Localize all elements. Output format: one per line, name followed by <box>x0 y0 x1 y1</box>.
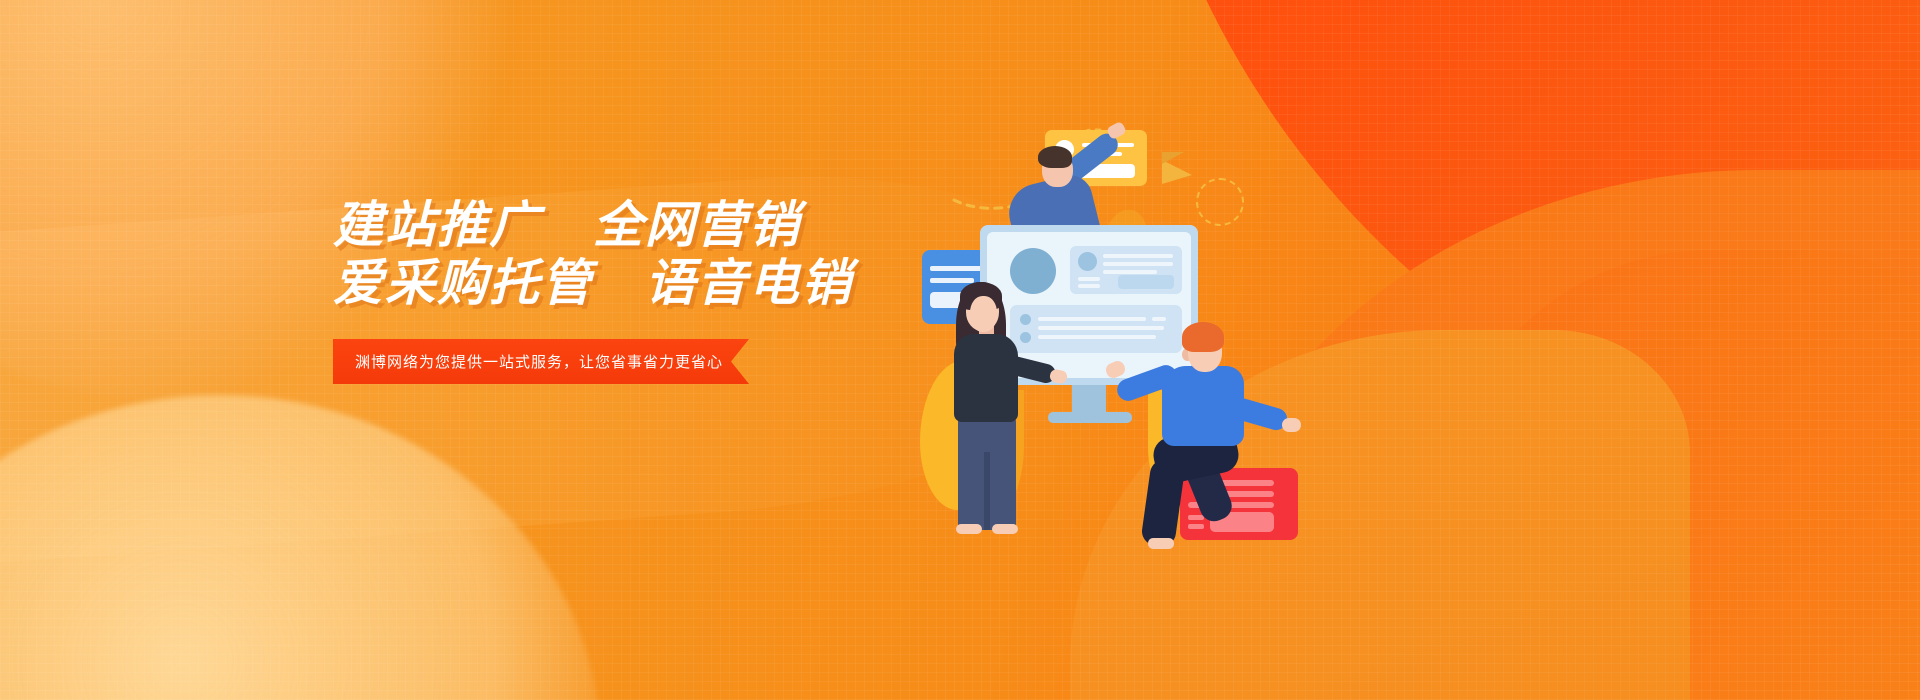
screen-card-line-2 <box>1103 262 1173 266</box>
man-reaching-hair <box>1038 146 1072 168</box>
screen-circle-widget <box>1010 248 1056 294</box>
promo-banner: 建站推广 全网营销 爱采购托管 语音电销 渊博网络为您提供一站式服务，让您省事省… <box>0 0 1920 700</box>
man-sitting-hair <box>1182 322 1224 352</box>
blue-card-line-2 <box>930 278 974 283</box>
dashed-circle-icon <box>1196 178 1244 226</box>
screen-list-dash <box>1152 317 1166 321</box>
headline-line-1-part-1: 建站推广 <box>333 197 541 253</box>
subtitle-ribbon-text: 渊博网络为您提供一站式服务，让您省事省力更省心 <box>355 351 723 372</box>
headline-line-1: 建站推广 全网营销 <box>333 196 853 254</box>
screen-list-bullet-2 <box>1020 332 1031 343</box>
screen-list-line-3 <box>1038 335 1156 339</box>
monitor-base <box>1048 412 1132 423</box>
man-sitting-lower-leg <box>1140 458 1186 548</box>
screen-card-small-line-2 <box>1078 284 1100 288</box>
screen-card-avatar <box>1078 252 1097 271</box>
hero-illustration <box>900 60 1320 660</box>
subtitle-ribbon: 渊博网络为您提供一站式服务，让您省事省力更省心 <box>333 339 749 384</box>
screen-list-bullet-1 <box>1020 314 1031 325</box>
screen-card-line-1 <box>1103 254 1173 258</box>
headline-block: 建站推广 全网营销 爱采购托管 语音电销 <box>333 196 853 312</box>
woman-face <box>970 296 997 332</box>
red-card-small-line-1 <box>1188 515 1204 520</box>
screen-list-line-2 <box>1038 326 1164 330</box>
screen-card-line-3 <box>1103 270 1157 274</box>
man-sitting-right-hand <box>1282 418 1301 432</box>
woman-body <box>954 334 1018 422</box>
screen-list-line-1 <box>1038 317 1146 321</box>
screen-card-small-line-1 <box>1078 277 1100 281</box>
headline-line-1-part-2: 全网营销 <box>593 197 801 253</box>
headline-line-2-part-1: 爱采购托管 <box>333 255 593 311</box>
woman-shoe-right <box>992 524 1018 534</box>
woman-leg-split <box>984 452 990 530</box>
paper-plane-wing-icon <box>1162 152 1184 164</box>
monitor-neck <box>1072 382 1106 416</box>
red-card-small-line-2 <box>1188 524 1204 529</box>
headline-line-2-part-2: 语音电销 <box>645 255 853 311</box>
headline-line-2: 爱采购托管 语音电销 <box>333 254 853 312</box>
screen-card-bar <box>1118 275 1174 289</box>
man-sitting-foot <box>1148 538 1174 549</box>
woman-shoe-left <box>956 524 982 534</box>
